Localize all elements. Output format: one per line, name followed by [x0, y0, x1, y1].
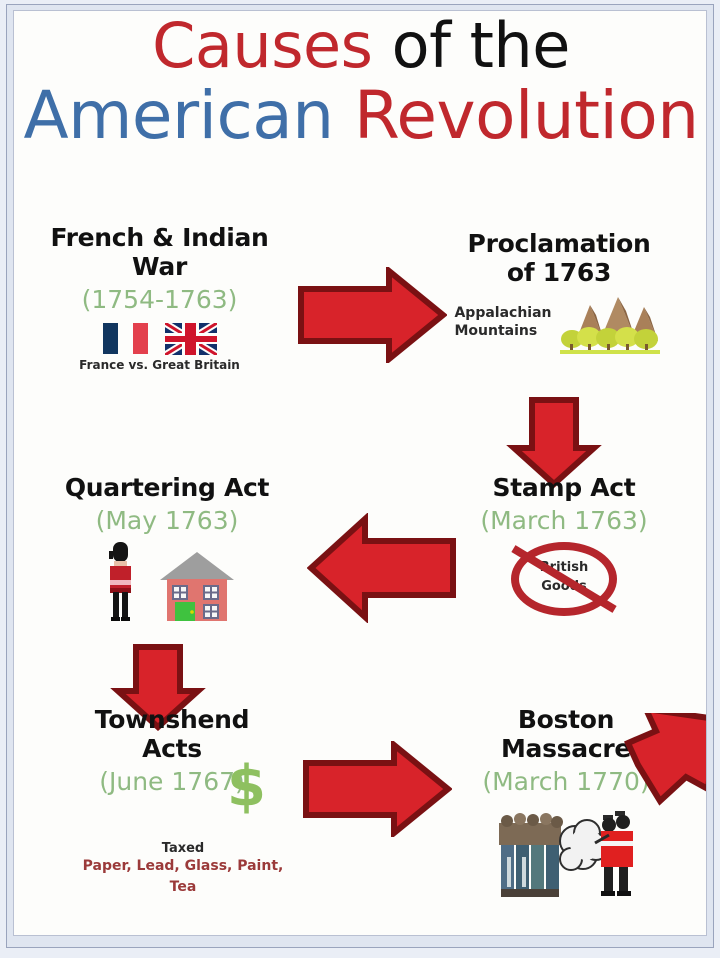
proclamation-illustration: Appalachian Mountains — [414, 289, 704, 355]
quartering-illustration — [22, 540, 312, 622]
node-townshend-acts: Townshend Acts (June 1767) $ Taxed Paper… — [32, 705, 312, 898]
node-date-townshend-acts: (June 1767) — [32, 767, 312, 797]
node-french-indian-war: French & Indian War (1754-1763) France — [22, 223, 297, 373]
node-title-french-indian-war: French & Indian War — [22, 223, 297, 281]
title-line-2: American Revolution — [14, 83, 707, 149]
node-date-stamp-act: (March 1763) — [424, 506, 704, 536]
title-revolution: Revolution — [334, 77, 699, 154]
node-title-proclamation-1763: Proclamation of 1763 — [414, 229, 704, 287]
node-date-quartering-act: (May 1763) — [22, 506, 312, 536]
france-flag-icon — [103, 323, 149, 354]
node-title-stamp-act: Stamp Act — [424, 473, 704, 502]
title-american: American — [23, 77, 333, 154]
house-icon — [158, 550, 236, 622]
title-causes: Causes — [152, 10, 372, 82]
node-caption-appalachian-mountains: Appalachian Mountains — [454, 304, 551, 340]
node-quartering-act: Quartering Act (May 1763) — [22, 473, 312, 622]
title-line-1: Causes of the — [14, 15, 707, 77]
node-stamp-act: Stamp Act (March 1763) British Goods — [424, 473, 704, 616]
british-soldier-icon — [98, 540, 142, 622]
arrow-boston-continue — [612, 713, 707, 817]
no-entry-icon: British Goods — [511, 542, 617, 616]
node-date-french-indian-war: (1754-1763) — [22, 285, 297, 315]
poster-frame: Causes of the American Revolution French… — [0, 0, 720, 958]
flags-row — [22, 323, 297, 355]
node-caption-taxed-items: Paper, Lead, Glass, Paint, Tea — [54, 856, 312, 898]
node-caption-france-vs-britain: France vs. Great Britain — [22, 358, 297, 373]
arrow-stamp-to-quartering — [307, 513, 457, 623]
node-title-quartering-act: Quartering Act — [22, 473, 312, 502]
dollar-sign-icon: $ — [227, 759, 266, 815]
node-proclamation-1763: Proclamation of 1763 Appalachian Mountai… — [414, 229, 704, 355]
mountains-icon — [556, 289, 664, 355]
united-kingdom-flag-icon — [165, 323, 217, 355]
poster-page: Causes of the American Revolution French… — [13, 10, 707, 936]
node-title-townshend-acts: Townshend Acts — [32, 705, 312, 763]
title-of-the: of the — [372, 10, 569, 82]
page-title: Causes of the American Revolution — [14, 15, 707, 149]
node-caption-taxed: Taxed — [54, 841, 312, 856]
